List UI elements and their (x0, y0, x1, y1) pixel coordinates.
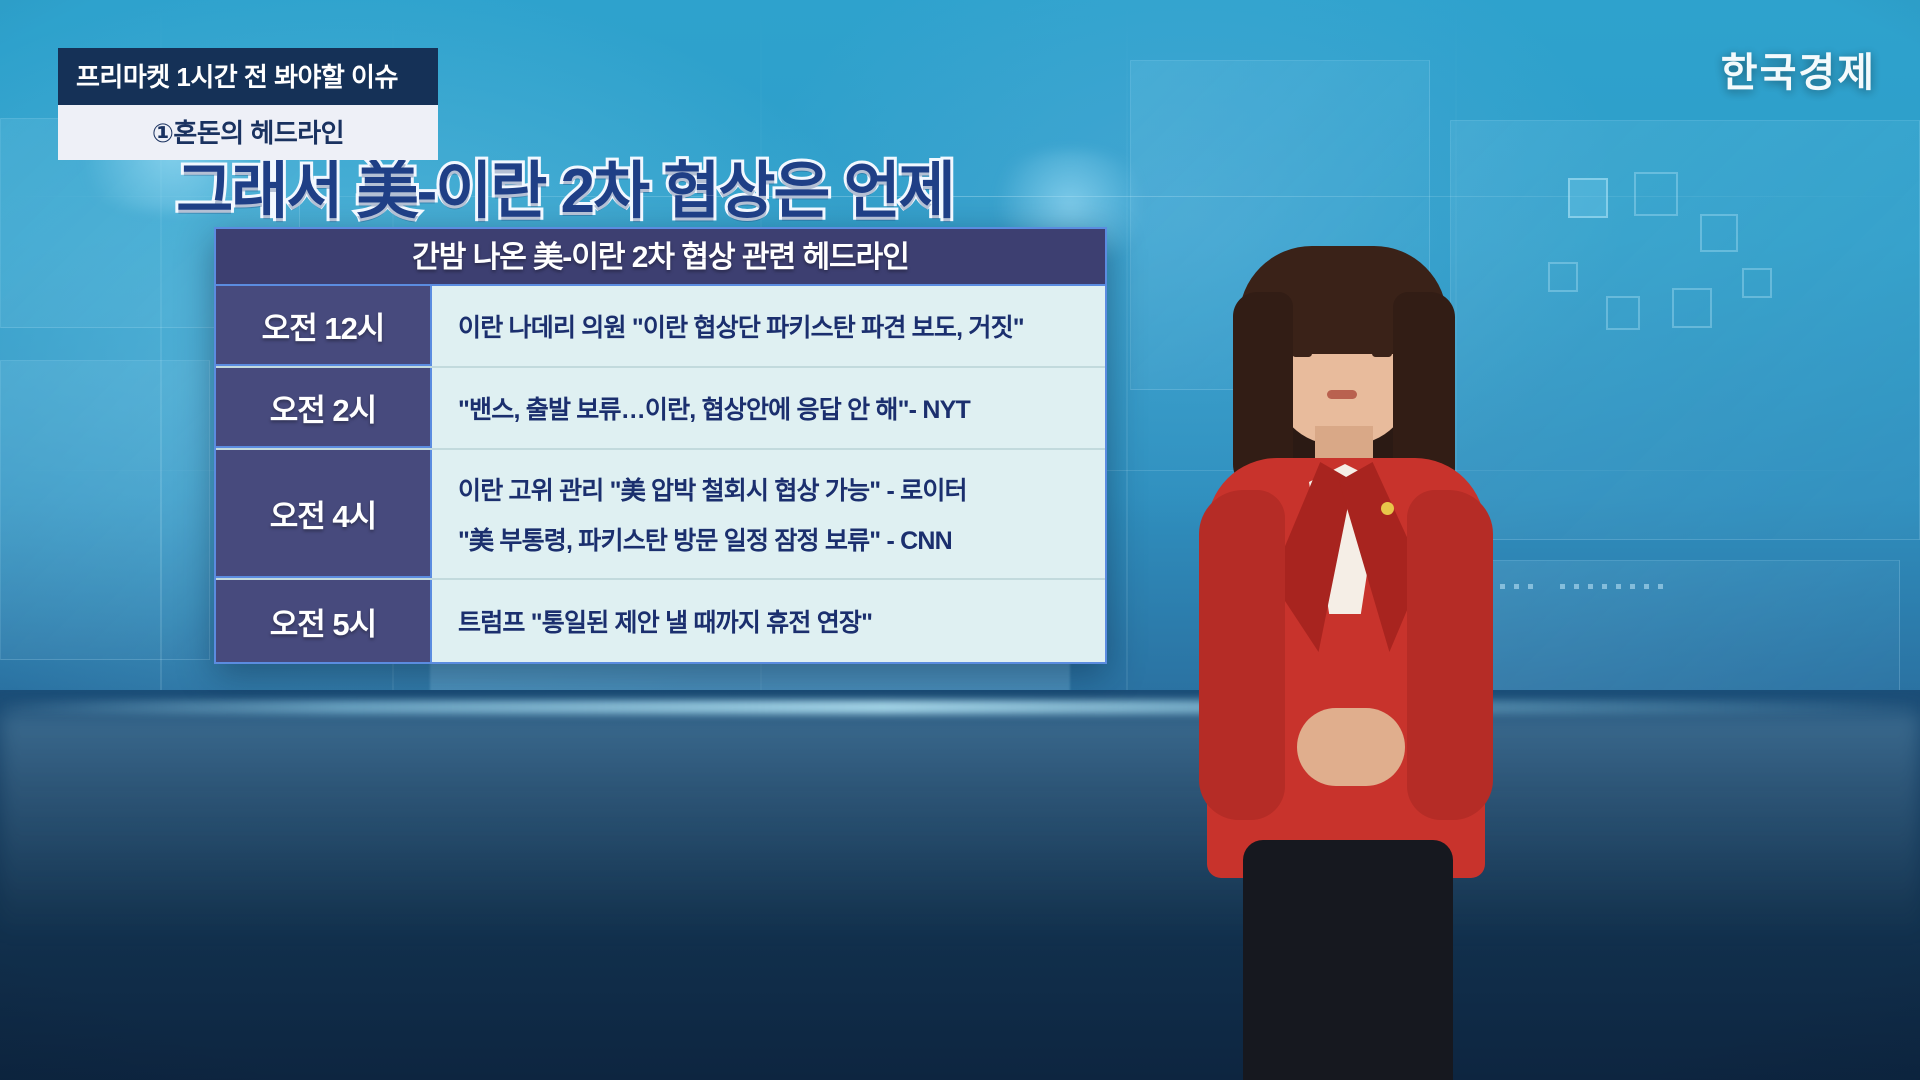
segment-title: ①혼돈의 헤드라인 (58, 105, 438, 160)
table-row-headlines: 트럼프 "통일된 제안 낼 때까지 휴전 연장" (432, 580, 1105, 662)
program-title: 프리마켓 1시간 전 봐야할 이슈 (58, 48, 438, 105)
table-row-time: 오전 5시 (216, 580, 432, 662)
decor-square (1634, 172, 1678, 216)
table-row: 오전 5시 트럼프 "통일된 제안 낼 때까지 휴전 연장" (216, 580, 1105, 662)
table-row: 오전 12시 이란 나데리 의원 "이란 협상단 파키스탄 파견 보도, 거짓" (216, 286, 1105, 368)
table-row-time: 오전 2시 (216, 368, 432, 448)
station-logo: 한국경제 (1721, 40, 1876, 98)
wall-panel (0, 360, 210, 660)
anchor-arm-right (1407, 490, 1493, 820)
station-logo-text: 한국경제 (1721, 40, 1876, 98)
table-header: 간밤 나온 美-이란 2차 협상 관련 헤드라인 (216, 229, 1105, 286)
table-row-time: 오전 12시 (216, 286, 432, 366)
floor-reflection (0, 712, 1920, 942)
table-row-time: 오전 4시 (216, 450, 432, 578)
news-anchor (1185, 240, 1515, 940)
table-body: 오전 12시 이란 나데리 의원 "이란 협상단 파키스탄 파견 보도, 거짓"… (216, 286, 1105, 662)
anchor-mouth (1327, 390, 1357, 399)
decor-square (1548, 262, 1578, 292)
headline-line: "밴스, 출발 보류…이란, 협상안에 응답 안 해"- NYT (458, 390, 1085, 426)
decor-square (1742, 268, 1772, 298)
table-row-headlines: "밴스, 출발 보류…이란, 협상안에 응답 안 해"- NYT (432, 368, 1105, 448)
table-row-headlines: 이란 나데리 의원 "이란 협상단 파키스탄 파견 보도, 거짓" (432, 286, 1105, 366)
program-banner: 프리마켓 1시간 전 봐야할 이슈 ①혼돈의 헤드라인 (58, 48, 438, 160)
decor-square (1672, 288, 1712, 328)
decor-dot-row (1560, 584, 1663, 589)
table-row: 오전 4시 이란 고위 관리 "美 압박 철회시 협상 가능" - 로이터 "美… (216, 450, 1105, 580)
wall-panel (1450, 120, 1920, 540)
broadcast-screenshot: 프리마켓 1시간 전 봐야할 이슈 ①혼돈의 헤드라인 한국경제 그래서 美-이… (0, 0, 1920, 1080)
headline-table: 간밤 나온 美-이란 2차 협상 관련 헤드라인 오전 12시 이란 나데리 의… (214, 227, 1107, 664)
anchor-lapel-pin (1381, 502, 1394, 515)
wall-panel (1480, 560, 1900, 710)
table-row: 오전 2시 "밴스, 출발 보류…이란, 협상안에 응답 안 해"- NYT (216, 368, 1105, 450)
headline-line: 이란 고위 관리 "美 압박 철회시 협상 가능" - 로이터 (458, 471, 1085, 507)
anchor-hands (1297, 708, 1405, 786)
headline-line: 이란 나데리 의원 "이란 협상단 파키스탄 파견 보도, 거짓" (458, 308, 1085, 344)
decor-square (1568, 178, 1608, 218)
decor-square (1700, 214, 1738, 252)
anchor-arm-left (1199, 490, 1285, 820)
headline-line: "美 부통령, 파키스탄 방문 일정 잠정 보류" - CNN (458, 521, 1085, 557)
anchor-trousers (1243, 840, 1453, 1080)
table-row-headlines: 이란 고위 관리 "美 압박 철회시 협상 가능" - 로이터 "美 부통령, … (432, 450, 1105, 578)
decor-square (1606, 296, 1640, 330)
headline-line: 트럼프 "통일된 제안 낼 때까지 휴전 연장" (458, 603, 1085, 639)
